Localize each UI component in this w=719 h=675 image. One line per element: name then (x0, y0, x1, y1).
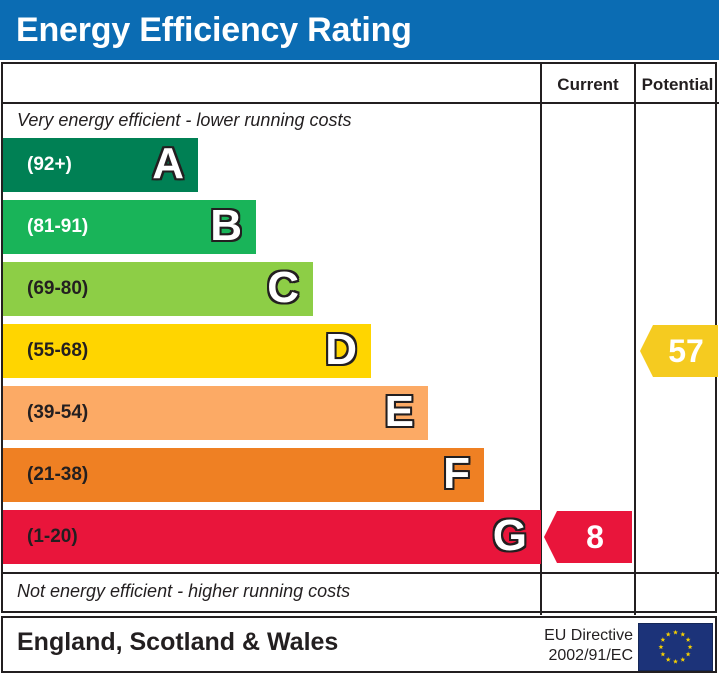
page-title: Energy Efficiency Rating (16, 8, 412, 52)
band-letter: A (152, 138, 184, 192)
band-range-label: (21-38) (27, 448, 88, 502)
title-banner: Energy Efficiency Rating (0, 0, 719, 60)
column-header-current: Current (542, 72, 634, 98)
band-d: (55-68)D (3, 324, 371, 378)
band-letter: B (210, 200, 242, 254)
eu-flag-icon (638, 623, 713, 671)
footer-bar: England, Scotland & Wales EU Directive 2… (1, 616, 717, 673)
band-letter: D (325, 324, 357, 378)
column-header-potential: Potential (636, 72, 719, 98)
header-divider (3, 102, 719, 104)
band-letter: F (443, 448, 470, 502)
band-list: (92+)A(81-91)B(69-80)C(55-68)D(39-54)E(2… (3, 138, 540, 572)
footer-region-label: England, Scotland & Wales (17, 628, 338, 657)
note-very-efficient: Very energy efficient - lower running co… (17, 110, 352, 131)
band-range-label: (69-80) (27, 262, 88, 316)
band-c: (69-80)C (3, 262, 313, 316)
band-b: (81-91)B (3, 200, 256, 254)
potential-column-divider (634, 64, 636, 615)
band-range-label: (55-68) (27, 324, 88, 378)
directive-line-1: EU Directive (523, 626, 633, 646)
band-letter: E (385, 386, 414, 440)
band-letter: C (267, 262, 299, 316)
footer-directive: EU Directive 2002/91/EC (523, 626, 633, 666)
band-letter: G (493, 510, 527, 564)
band-e: (39-54)E (3, 386, 428, 440)
note-not-efficient: Not energy efficient - higher running co… (17, 581, 350, 602)
band-range-label: (92+) (27, 138, 72, 192)
band-f: (21-38)F (3, 448, 484, 502)
rating-marker-current: 8 (544, 511, 632, 563)
directive-line-2: 2002/91/EC (523, 646, 633, 666)
band-range-label: (39-54) (27, 386, 88, 440)
band-range-label: (1-20) (27, 510, 78, 564)
band-range-label: (81-91) (27, 200, 88, 254)
rating-chart: Current Potential Very energy efficient … (1, 62, 717, 613)
band-a: (92+)A (3, 138, 198, 192)
energy-efficiency-certificate: Energy Efficiency Rating Current Potenti… (0, 0, 719, 675)
band-g: (1-20)G (3, 510, 541, 564)
footer-divider (3, 572, 719, 574)
rating-marker-potential: 57 (640, 325, 718, 377)
